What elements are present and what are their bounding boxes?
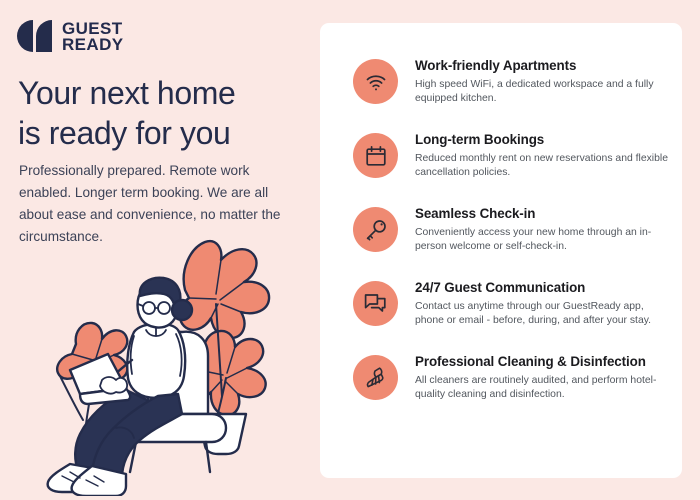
feature-title: Seamless Check-in [415,205,668,222]
feature-text: Professional Cleaning & Disinfection All… [415,352,668,402]
feature-item-long-term-bookings[interactable]: Long-term Bookings Reduced monthly rent … [353,130,668,180]
woman-with-laptop-and-plants-illustration [30,228,315,496]
feature-title: Work-friendly Apartments [415,57,668,74]
broom-icon [353,355,398,400]
wifi-icon [353,59,398,104]
brand-wordmark: GUEST READY [62,21,124,53]
feature-text: Work-friendly Apartments High speed WiFi… [415,56,668,106]
feature-text: 24/7 Guest Communication Contact us anyt… [415,278,668,328]
brand-name-line2: READY [62,37,124,53]
hero-panel: GUEST READY Your next home is ready for … [0,0,320,500]
feature-item-cleaning-disinfection[interactable]: Professional Cleaning & Disinfection All… [353,352,668,402]
chat-bubbles-icon [353,281,398,326]
feature-item-work-friendly-apartments[interactable]: Work-friendly Apartments High speed WiFi… [353,56,668,106]
headline-line-2: is ready for you [18,115,230,151]
feature-text: Long-term Bookings Reduced monthly rent … [415,130,668,180]
feature-title: 24/7 Guest Communication [415,279,668,296]
features-card: Work-friendly Apartments High speed WiFi… [320,23,682,478]
key-icon [353,207,398,252]
headline-line-1: Your next home [18,75,235,111]
calendar-icon [353,133,398,178]
feature-item-guest-communication[interactable]: 24/7 Guest Communication Contact us anyt… [353,278,668,328]
feature-description: Reduced monthly rent on new reservations… [415,152,668,180]
feature-title: Professional Cleaning & Disinfection [415,353,668,370]
feature-description: Conveniently access your new home throug… [415,226,668,254]
feature-title: Long-term Bookings [415,131,668,148]
features-list: Work-friendly Apartments High speed WiFi… [320,23,682,478]
feature-description: Contact us anytime through our GuestRead… [415,300,668,328]
brand-logo[interactable]: GUEST READY [17,19,124,55]
feature-text: Seamless Check-in Conveniently access yo… [415,204,668,254]
feature-description: All cleaners are routinely audited, and … [415,374,668,402]
feature-item-seamless-check-in[interactable]: Seamless Check-in Conveniently access yo… [353,204,668,254]
feature-description: High speed WiFi, a dedicated workspace a… [415,78,668,106]
guestready-quadrant-logo-icon [17,19,53,55]
page-title: Your next home is ready for you [18,73,310,153]
